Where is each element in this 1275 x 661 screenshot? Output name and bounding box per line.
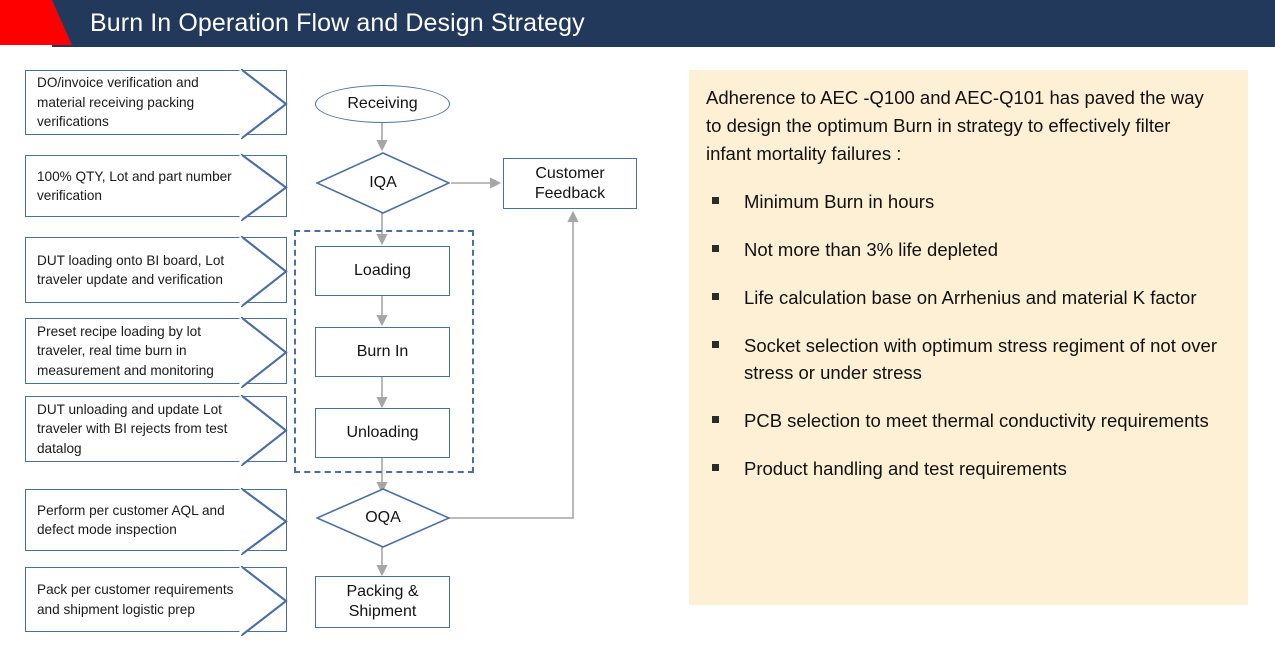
callout-arrow: DO/invoice verification and material rec… — [25, 70, 287, 135]
flow-node-label-line2: Feedback — [535, 184, 605, 204]
flow-node-label: Receiving — [347, 94, 417, 114]
flow-node-label-line1: Customer — [535, 164, 604, 184]
list-item: Minimum Burn in hours — [706, 188, 1232, 215]
list-item-label: Socket selection with optimum stress reg… — [744, 332, 1232, 386]
flow-node-packing-shipment: Packing & Shipment — [315, 576, 450, 628]
list-item-label: Life calculation base on Arrhenius and m… — [744, 284, 1196, 311]
square-bullet-icon — [712, 197, 719, 204]
arrow-head-icon — [241, 237, 287, 306]
flow-node-oqa: OQA — [316, 488, 450, 548]
callout-arrow-label: DUT loading onto BI board, Lot traveler … — [26, 251, 248, 290]
arrow-head-icon — [241, 318, 287, 387]
list-item: Product handling and test requirements — [706, 455, 1232, 482]
flow-node-label-line1: Packing & — [346, 582, 418, 602]
list-item: PCB selection to meet thermal conductivi… — [706, 407, 1232, 434]
callout-arrow: DUT loading onto BI board, Lot traveler … — [25, 237, 287, 303]
flow-node-unloading: Unloading — [315, 408, 450, 458]
flow-node-customer-feedback: Customer Feedback — [503, 158, 637, 209]
flow-node-receiving: Receiving — [315, 85, 450, 123]
square-bullet-icon — [712, 341, 719, 348]
callout-arrow-body: Perform per customer AQL and defect mode… — [26, 490, 248, 550]
list-item: Not more than 3% life depleted — [706, 236, 1232, 263]
arrow-head-icon — [241, 489, 287, 554]
square-bullet-icon — [712, 245, 719, 252]
callout-arrow-body: 100% QTY, Lot and part number verificati… — [26, 156, 248, 216]
list-item-label: PCB selection to meet thermal conductivi… — [744, 407, 1209, 434]
flow-node-label-line2: Shipment — [349, 602, 417, 622]
callout-arrow-body: Preset recipe loading by lot traveler, r… — [26, 319, 248, 383]
list-item: Socket selection with optimum stress reg… — [706, 332, 1232, 386]
callout-arrow: Perform per customer AQL and defect mode… — [25, 489, 287, 551]
callout-arrow-body: DUT unloading and update Lot traveler wi… — [26, 397, 248, 461]
list-item: Life calculation base on Arrhenius and m… — [706, 284, 1232, 311]
callout-arrow-label: DO/invoice verification and material rec… — [26, 73, 248, 132]
arrow-head-icon — [241, 567, 287, 635]
flow-node-iqa: IQA — [316, 152, 450, 214]
callout-arrow-body: Pack per customer requirements and shipm… — [26, 568, 248, 631]
flow-node-label: Unloading — [346, 423, 418, 443]
flow-node-loading: Loading — [315, 246, 450, 296]
list-item-label: Not more than 3% life depleted — [744, 236, 998, 263]
callout-arrow-label: DUT unloading and update Lot traveler wi… — [26, 400, 248, 459]
flow-node-label: OQA — [316, 488, 450, 548]
callout-arrow-label: Perform per customer AQL and defect mode… — [26, 501, 248, 540]
flow-node-label: Burn In — [357, 342, 409, 362]
callout-arrow: Preset recipe loading by lot traveler, r… — [25, 318, 287, 384]
flow-node-label: Loading — [354, 261, 411, 281]
callout-arrow-label: 100% QTY, Lot and part number verificati… — [26, 167, 248, 206]
panel-intro-text: Adherence to AEC -Q100 and AEC-Q101 has … — [706, 84, 1211, 168]
list-item-label: Minimum Burn in hours — [744, 188, 934, 215]
callout-arrow-body: DUT loading onto BI board, Lot traveler … — [26, 238, 248, 302]
callout-arrow: 100% QTY, Lot and part number verificati… — [25, 155, 287, 217]
square-bullet-icon — [712, 416, 719, 423]
design-strategy-panel: Adherence to AEC -Q100 and AEC-Q101 has … — [689, 70, 1248, 605]
square-bullet-icon — [712, 464, 719, 471]
arrow-head-icon — [241, 70, 287, 138]
list-item-label: Product handling and test requirements — [744, 455, 1067, 482]
page-title: Burn In Operation Flow and Design Strate… — [90, 0, 585, 47]
square-bullet-icon — [712, 293, 719, 300]
arrow-head-icon — [241, 396, 287, 465]
callout-arrow: Pack per customer requirements and shipm… — [25, 567, 287, 632]
flow-node-label: IQA — [316, 152, 450, 214]
arrow-head-icon — [241, 155, 287, 220]
callout-arrow-body: DO/invoice verification and material rec… — [26, 71, 248, 134]
callout-arrow-label: Preset recipe loading by lot traveler, r… — [26, 322, 248, 381]
callout-arrow: DUT unloading and update Lot traveler wi… — [25, 396, 287, 462]
slide-title-bar: Burn In Operation Flow and Design Strate… — [0, 0, 1275, 47]
flow-node-burn-in: Burn In — [315, 327, 450, 377]
callout-arrow-label: Pack per customer requirements and shipm… — [26, 580, 248, 619]
